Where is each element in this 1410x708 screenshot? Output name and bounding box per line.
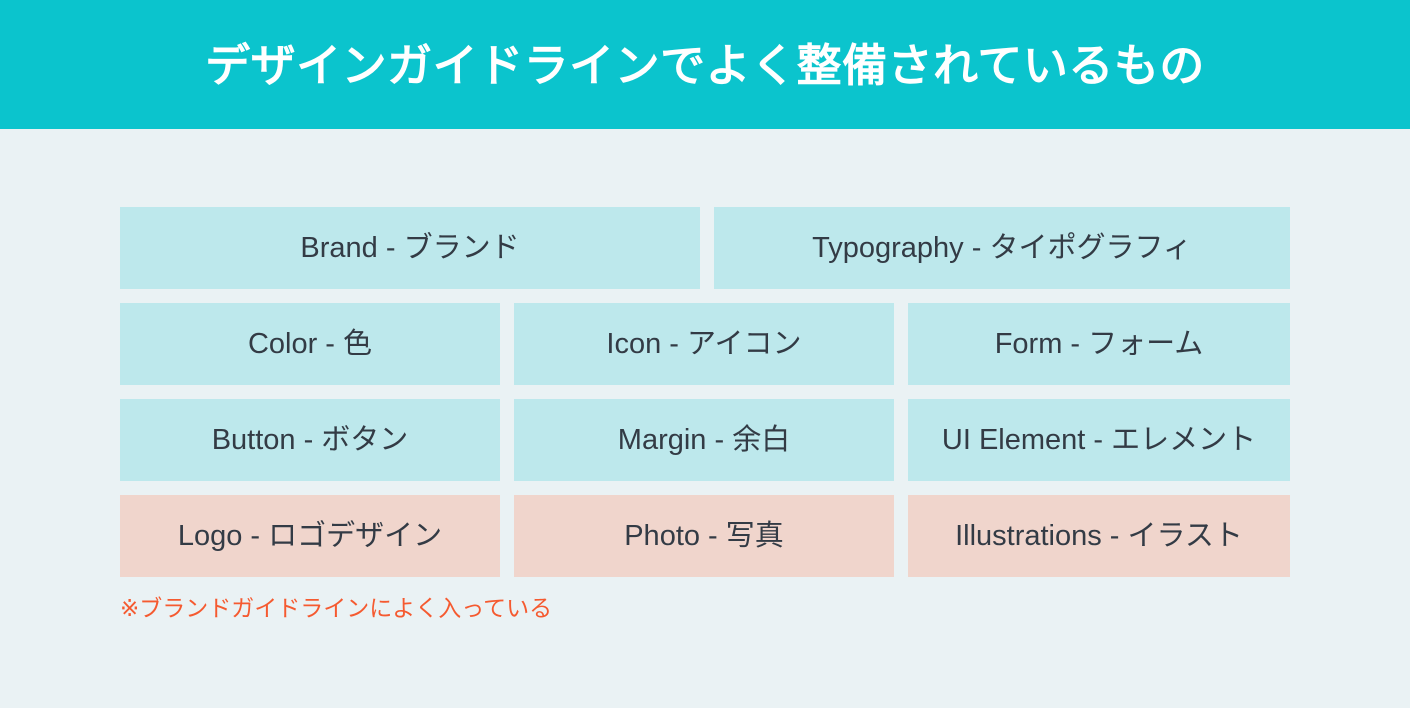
slide-page: デザインガイドラインでよく整備されているもの Brand - ブランド Typo… bbox=[0, 0, 1410, 708]
category-card-label: Button - ボタン bbox=[212, 426, 409, 455]
grid-row-2: Color - 色 Icon - アイコン Form - フォーム bbox=[120, 303, 1290, 385]
category-card-label: Margin - 余白 bbox=[618, 426, 790, 455]
category-card-illustrations[interactable]: Illustrations - イラスト bbox=[908, 495, 1290, 577]
category-card-color[interactable]: Color - 色 bbox=[120, 303, 500, 385]
header-bar: デザインガイドラインでよく整備されているもの bbox=[0, 0, 1410, 129]
category-card-label: Typography - タイポグラフィ bbox=[812, 234, 1192, 263]
category-card-label: Photo - 写真 bbox=[624, 522, 784, 551]
category-card-label: Form - フォーム bbox=[995, 330, 1204, 359]
category-card-brand[interactable]: Brand - ブランド bbox=[120, 207, 700, 289]
category-card-margin[interactable]: Margin - 余白 bbox=[514, 399, 894, 481]
category-grid: Brand - ブランド Typography - タイポグラフィ Color … bbox=[120, 207, 1290, 591]
category-card-ui-element[interactable]: UI Element - エレメント bbox=[908, 399, 1290, 481]
page-title: デザインガイドラインでよく整備されているもの bbox=[205, 41, 1205, 91]
footnote-text: ※ブランドガイドラインによく入っている bbox=[120, 594, 552, 624]
category-card-button[interactable]: Button - ボタン bbox=[120, 399, 500, 481]
category-card-label: Illustrations - イラスト bbox=[955, 522, 1243, 551]
grid-row-3: Button - ボタン Margin - 余白 UI Element - エレ… bbox=[120, 399, 1290, 481]
category-card-icon[interactable]: Icon - アイコン bbox=[514, 303, 894, 385]
category-card-label: Color - 色 bbox=[248, 330, 372, 359]
category-card-label: Logo - ロゴデザイン bbox=[178, 522, 442, 551]
category-card-form[interactable]: Form - フォーム bbox=[908, 303, 1290, 385]
category-card-label: Icon - アイコン bbox=[606, 330, 801, 359]
grid-row-4: Logo - ロゴデザイン Photo - 写真 Illustrations -… bbox=[120, 495, 1290, 577]
grid-row-1: Brand - ブランド Typography - タイポグラフィ bbox=[120, 207, 1290, 289]
category-card-logo[interactable]: Logo - ロゴデザイン bbox=[120, 495, 500, 577]
category-card-label: Brand - ブランド bbox=[300, 234, 519, 263]
category-card-label: UI Element - エレメント bbox=[942, 426, 1256, 455]
category-card-photo[interactable]: Photo - 写真 bbox=[514, 495, 894, 577]
category-card-typography[interactable]: Typography - タイポグラフィ bbox=[714, 207, 1290, 289]
